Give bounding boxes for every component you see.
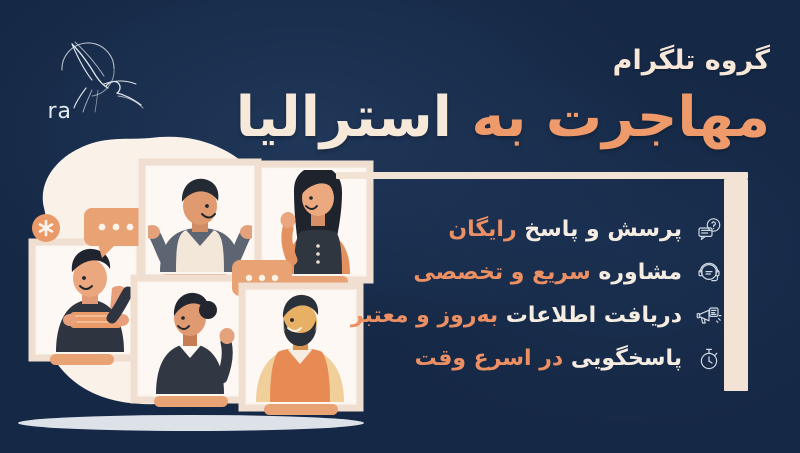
list-item: مشاوره سریع و تخصصی [122,251,722,294]
yara-logo: yara [48,32,152,122]
list-item-label: مشاوره سریع و تخصصی [413,262,682,284]
stopwatch-icon [696,346,722,372]
headset-support-icon [696,260,722,286]
hummingbird-icon [62,42,143,112]
list-item-label: دریافت اطلاعات به‌روز و معتبر [351,305,682,327]
chat-question-icon [696,217,722,243]
bullet-4-plain: پاسخگویی [571,346,682,371]
list-item-label: پرسش و پاسخ رایگان [448,219,682,241]
bullet-2-highlight: سریع و تخصصی [413,260,590,285]
logo-wordmark: yara [48,99,72,122]
page-title: مهاجرت به استرالیا [236,86,770,150]
bullet-1-plain: پرسش و پاسخ [524,217,682,242]
bullet-1-highlight: رایگان [448,217,516,242]
bullet-2-plain: مشاوره [598,260,682,285]
bullet-3-highlight: به‌روز و معتبر [351,303,498,328]
bullet-3-plain: دریافت اطلاعات [506,303,682,328]
headline-part-orange: مهاجرت به [471,85,770,150]
feature-list: پرسش و پاسخ رایگان مشاوره سریع و تخصصی [122,208,722,380]
list-item: پاسخگویی در اسرع وقت [122,337,722,380]
kicker-telegram-group: گروه تلگرام [613,46,770,76]
floor-shadow-ellipse [18,415,364,431]
nameplate-1 [50,354,114,365]
nameplate-4 [154,396,228,407]
decor-rule-right [724,179,748,391]
list-item: پرسش و پاسخ رایگان [122,208,722,251]
nameplate-5 [264,404,338,415]
list-item-label: پاسخگویی در اسرع وقت [415,348,682,370]
megaphone-news-icon [696,303,722,329]
bullet-4-highlight: در اسرع وقت [415,346,564,371]
telegram-group-banner: yara گروه تلگرام مهاجرت به استرالیا [0,0,800,453]
headline-part-cream: استرالیا [236,85,452,150]
asterisk-badge-icon [32,214,60,242]
decor-rule-top [336,172,748,179]
list-item: دریافت اطلاعات به‌روز و معتبر [122,294,722,337]
